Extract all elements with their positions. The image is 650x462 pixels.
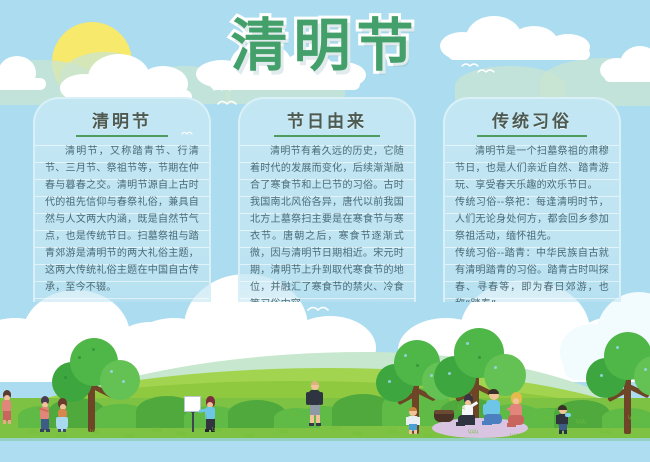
person-child-left-of-mat: [406, 408, 420, 434]
card-paragraph: 清明节有着久远的历史，它随着时代的发展而变化，后续渐渐融合了寒食节和上巳节的习俗…: [250, 143, 404, 302]
card-heading-underline: [76, 135, 168, 137]
page-title-text: 清明节: [231, 13, 420, 79]
river: [0, 441, 650, 462]
tree-far-right: [586, 330, 650, 434]
card-heading: 传统习俗: [445, 107, 619, 132]
card-paragraph: 传统习俗--祭祀：每逢清明时节，人们无论身处何方，都会回乡参加祭祖活动，缅怀祖先…: [455, 194, 609, 245]
grass-tuft: ʯʯʯ: [352, 432, 362, 437]
card-body: 清明节有着久远的历史，它随着时代的发展而变化，后续渐渐融合了寒食节和上巳节的习俗…: [250, 143, 404, 302]
poster-canvas: 清明节 清明节 清明节，又称踏青节、行清节、三月节、祭祖节等，节期在仲春与暮春之…: [0, 0, 650, 462]
grass-tuft: ʯʯʯ: [388, 430, 398, 435]
grass-tuft: ʯʯ: [290, 412, 297, 417]
card-jieriyoulai: 节日由来 清明节有着久远的历史，它随着时代的发展而变化，后续渐渐融合了寒食节和上…: [238, 97, 416, 302]
card-paragraph: 传统习俗--踏青：中华民族自古就有清明踏青的习俗。踏青古时叫探春、寻春等，即为春…: [455, 245, 609, 302]
person-picnic-woman-right: [506, 392, 530, 428]
grass-tuft: ʯʯʯ: [152, 428, 162, 433]
person-woman-far-left: [0, 390, 14, 424]
grass-tuft: ʯʯʯ: [278, 430, 288, 435]
person-picnic-man-center: [482, 390, 506, 428]
card-heading-underline: [477, 135, 587, 137]
card-body: 清明节，又称踏青节、行清节、三月节、祭祖节等，节期在仲春与暮春之交。清明节源自上…: [45, 143, 199, 296]
grass-tuft: ʯʯʯ: [28, 430, 38, 435]
flying-birds-left-scene: [334, 338, 364, 352]
grass-tuft: ʯʯʯ: [540, 416, 550, 421]
person-child-right: [556, 406, 570, 434]
card-chuantongxisu: 传统习俗 清明节是一个扫墓祭祖的肃穆节日，也是人们亲近自然、踏青游玩、享受春天乐…: [443, 97, 621, 302]
grass-tuft: ʯʯʯ: [90, 430, 100, 435]
bird-icon-card1: [181, 121, 193, 128]
card-paragraph: 清明节是一个扫墓祭祖的肃穆节日，也是人们亲近自然、踏青游玩、享受春天乐趣的欢乐节…: [455, 143, 609, 194]
grass-tuft: ʯʯʯ: [176, 432, 186, 437]
grass-tuft: ʯʯ: [458, 406, 465, 411]
card-heading-underline: [274, 135, 380, 137]
grass-tuft: ʯʯʯ: [330, 426, 340, 431]
grass-tuft: ʯʯʯ: [628, 416, 638, 421]
grass-tuft: ʯʯʯ: [576, 420, 586, 425]
flying-birds-center: [304, 300, 364, 340]
grass-tuft: ʯʯʯ: [212, 428, 222, 433]
card-paragraph: 清明节，又称踏青节、行清节、三月节、祭祖节等，节期在仲春与暮春之交。清明节源自上…: [45, 143, 199, 296]
person-picnic-woman-left: [458, 394, 480, 428]
grass-tuft: ʯʯʯ: [600, 430, 610, 435]
person-man-walking: [306, 382, 324, 426]
grass-tuft: ʯʯ: [200, 414, 207, 419]
person-woman-walking-1: [36, 396, 52, 432]
grass-tuft: ʯʯʯ: [468, 430, 478, 435]
picnic-basket: [434, 408, 454, 422]
flying-birds-above-cards: [212, 84, 242, 114]
page-title: 清明节: [0, 14, 650, 78]
card-qingmingjie: 清明节 清明节，又称踏青节、行清节、三月节、祭祖节等，节期在仲春与暮春之交。清明…: [33, 97, 211, 302]
card-body: 清明节是一个扫墓祭祖的肃穆节日，也是人们亲近自然、踏青游玩、享受春天乐趣的欢乐节…: [455, 143, 609, 302]
person-woman-walking-2: [54, 398, 70, 432]
card-heading: 节日由来: [240, 107, 414, 132]
